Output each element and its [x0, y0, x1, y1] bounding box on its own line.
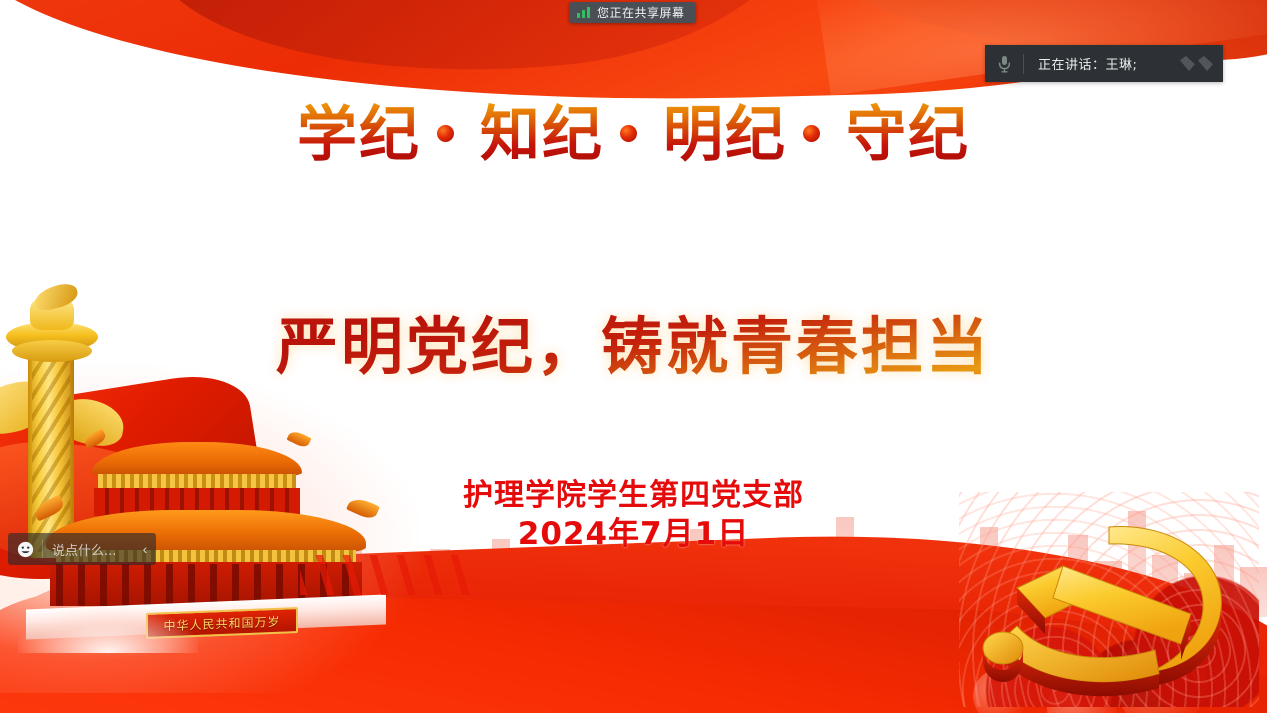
flag-row-decoration — [300, 555, 470, 595]
smiley-face-icon[interactable] — [8, 541, 42, 558]
headline-part-4: 守纪 — [846, 100, 970, 170]
fountain-decoration — [18, 607, 198, 653]
microphone-icon — [985, 55, 1023, 73]
slide-byline: 护理学院学生第四党支部 2024年7月1日 — [0, 477, 1267, 553]
chevron-left-icon[interactable]: ‹ — [134, 542, 156, 556]
active-speaker-label: 正在讲话：王琳; — [1024, 54, 1137, 73]
byline-organization: 护理学院学生第四党支部 — [0, 477, 1267, 515]
double-chevron-icon[interactable] — [1180, 56, 1223, 71]
slide-subtitle: 严明党纪，铸就青春担当 — [0, 296, 1267, 386]
screen-share-view: 中华人民共和国万岁 — [0, 0, 1267, 713]
active-speaker-bar[interactable]: 正在讲话：王琳; — [985, 45, 1223, 82]
gate-upper-roof — [92, 442, 302, 476]
signal-bars-icon — [577, 7, 590, 18]
byline-date: 2024年7月1日 — [0, 515, 1267, 554]
comment-input-placeholder[interactable]: 说点什么... — [43, 540, 134, 559]
headline-part-2: 知纪 — [480, 100, 604, 170]
headline-separator-dot — [803, 125, 820, 142]
presentation-slide: 中华人民共和国万岁 — [0, 0, 1267, 713]
headline-part-3: 明纪 — [663, 100, 787, 170]
screen-sharing-label: 您正在共享屏幕 — [597, 4, 685, 21]
headline-separator-dot — [620, 125, 637, 142]
headline-separator-dot — [437, 125, 454, 142]
comment-input-bar[interactable]: 说点什么... ‹ — [8, 533, 156, 565]
slide-headline: 学纪知纪明纪守纪 — [0, 86, 1267, 173]
screen-sharing-banner[interactable]: 您正在共享屏幕 — [569, 2, 696, 23]
headline-part-1: 学纪 — [297, 100, 421, 170]
